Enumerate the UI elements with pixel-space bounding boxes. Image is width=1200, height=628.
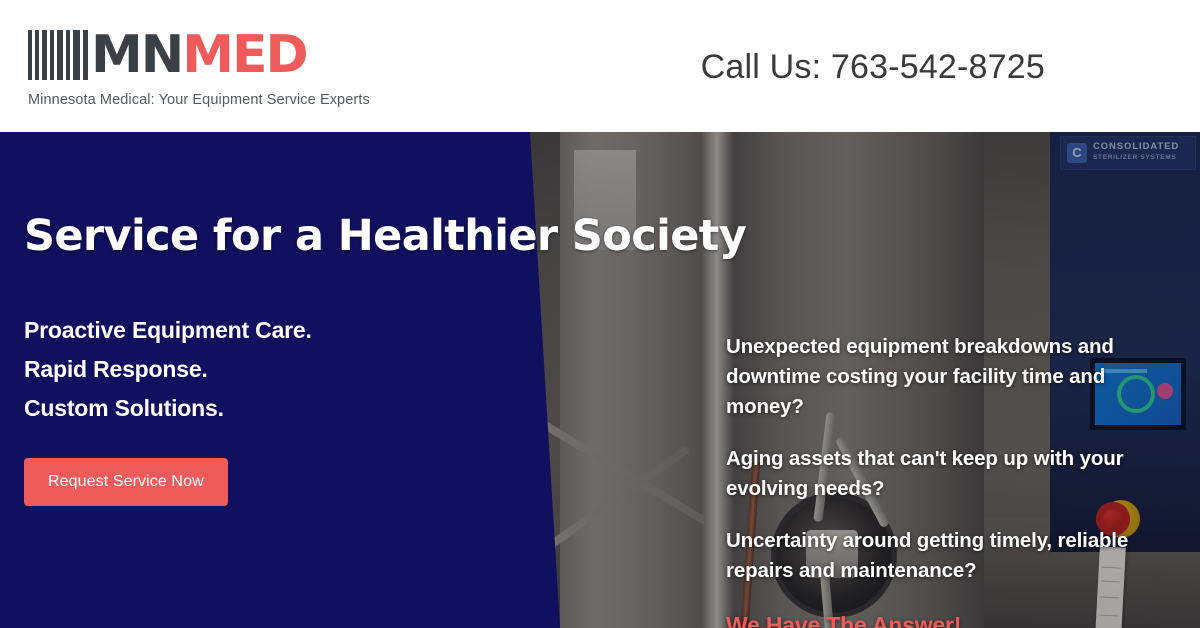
answer-callout: We Have The Answer!	[726, 612, 1166, 628]
brand-lockup[interactable]: MNMED Minnesota Medical: Your Equipment …	[28, 26, 370, 108]
request-service-button[interactable]: Request Service Now	[24, 458, 228, 506]
pain-point-question: Uncertainty around getting timely, relia…	[726, 526, 1166, 586]
value-prop-item: Custom Solutions.	[24, 389, 724, 428]
pain-point-question: Aging assets that can't keep up with you…	[726, 444, 1166, 504]
hero-left-column: Service for a Healthier Society Proactiv…	[24, 132, 724, 506]
brand-tagline: Minnesota Medical: Your Equipment Servic…	[28, 92, 370, 108]
barcode-icon	[28, 30, 91, 80]
value-prop-item: Rapid Response.	[24, 350, 724, 389]
hero-value-props: Proactive Equipment Care. Rapid Response…	[24, 311, 724, 428]
hero-right-column: Unexpected equipment breakdowns and down…	[726, 332, 1166, 628]
pain-point-question: Unexpected equipment breakdowns and down…	[726, 332, 1166, 422]
landing-page: MNMED Minnesota Medical: Your Equipment …	[0, 0, 1200, 628]
wordmark: MNMED	[91, 30, 307, 80]
hero-headline: Service for a Healthier Society	[24, 214, 724, 259]
value-prop-item: Proactive Equipment Care.	[24, 311, 724, 350]
call-us-phone[interactable]: Call Us: 763-542-8725	[701, 48, 1045, 87]
logo[interactable]: MNMED	[28, 26, 370, 80]
hero-section: C CONSOLIDATED STERILIZER SYSTEMS	[0, 132, 1200, 628]
site-header: MNMED Minnesota Medical: Your Equipment …	[0, 0, 1200, 132]
wordmark-mn: MN	[91, 30, 182, 80]
wordmark-med: MED	[182, 30, 306, 80]
